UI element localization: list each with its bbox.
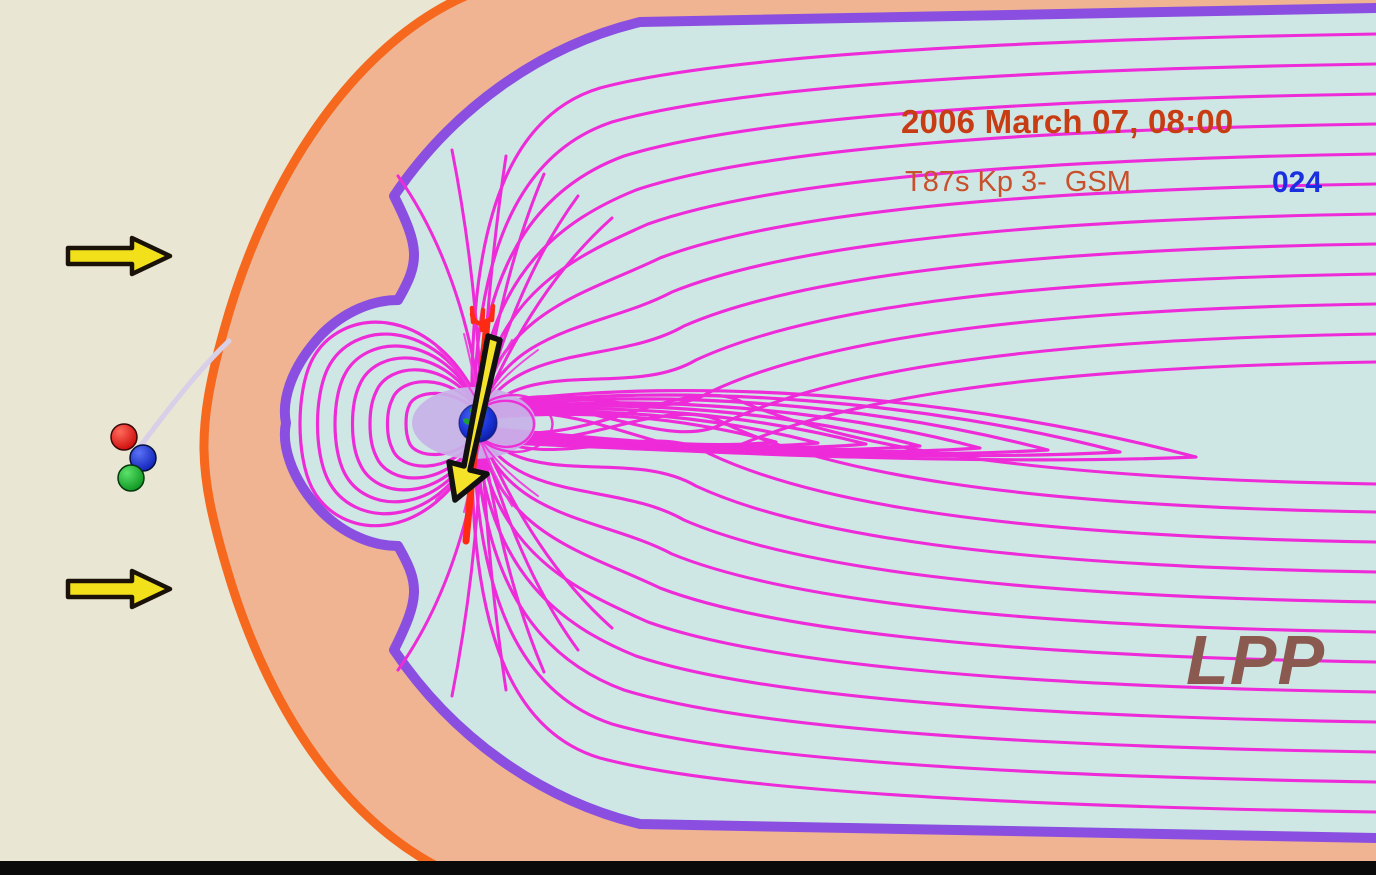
- frame-number: 024: [1272, 166, 1322, 200]
- model-label: T87s Kp 3-GSM: [905, 166, 1131, 199]
- z-axis-sphere: [118, 465, 144, 491]
- solar-wind-arrow-upper: [68, 238, 170, 274]
- model-name: T87s Kp 3-: [905, 166, 1047, 198]
- bottom-bar: [0, 861, 1376, 875]
- magnetosphere-diagram: 2006 March 07, 08:00 T87s Kp 3-GSM 024 L…: [0, 0, 1376, 875]
- solar-wind-arrow-lower: [68, 571, 170, 607]
- lpp-watermark: LPP: [1186, 620, 1325, 700]
- date-label: 2006 March 07, 08:00: [901, 103, 1233, 141]
- x-axis-sphere: [111, 424, 137, 450]
- coord-system-label: GSM: [1065, 166, 1131, 198]
